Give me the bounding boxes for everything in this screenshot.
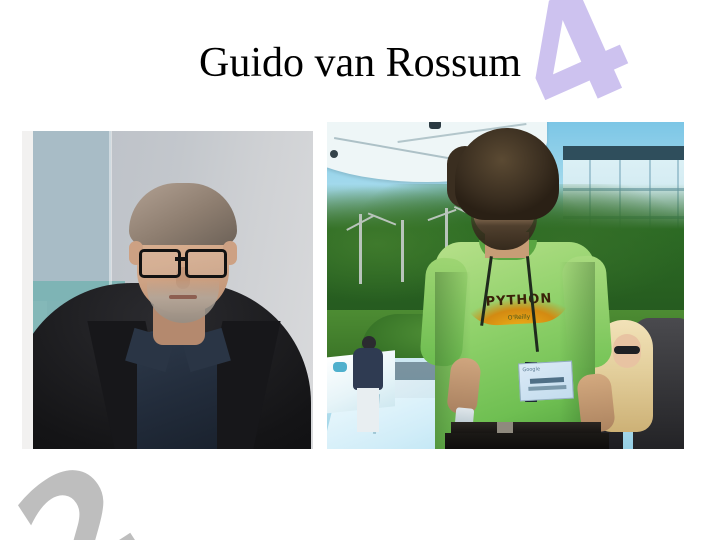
portrait-glasses-lens-left xyxy=(139,249,181,278)
page-title: Guido van Rossum xyxy=(0,40,720,86)
canopy-fitting-2 xyxy=(330,150,338,158)
name-badge-subtitle-line xyxy=(528,385,566,391)
slide-canvas: 4 2 Guido van Rossum xyxy=(0,0,720,540)
name-badge: Google xyxy=(518,361,574,402)
portrait-photo-left: 2 xyxy=(22,131,313,449)
portrait-glasses-lens-right xyxy=(185,249,227,278)
name-badge-name-line xyxy=(530,377,564,384)
photo-left-image: 2 xyxy=(33,131,313,449)
attendee-1-legs xyxy=(357,388,379,432)
tree-trunk-2 xyxy=(401,220,404,282)
attendee-1-body xyxy=(353,348,383,390)
attendee-blonde-sunglasses xyxy=(614,346,640,354)
conference-photo-right: PYTHON O'Reilly Google 4 xyxy=(327,122,684,449)
portrait-mouth xyxy=(169,295,197,299)
tree-trunk-1 xyxy=(359,214,362,284)
subject-pants xyxy=(445,433,609,449)
subject-hand-left xyxy=(446,357,482,416)
bottle-on-table xyxy=(333,362,347,372)
backdrop-panel-a xyxy=(33,131,111,301)
canopy-fitting xyxy=(429,122,441,129)
portrait-glasses-bridge xyxy=(175,257,187,261)
name-badge-logo-text: Google xyxy=(522,366,540,373)
building-roof xyxy=(563,146,684,160)
watermark-diagonal-band: 2 xyxy=(0,440,162,540)
